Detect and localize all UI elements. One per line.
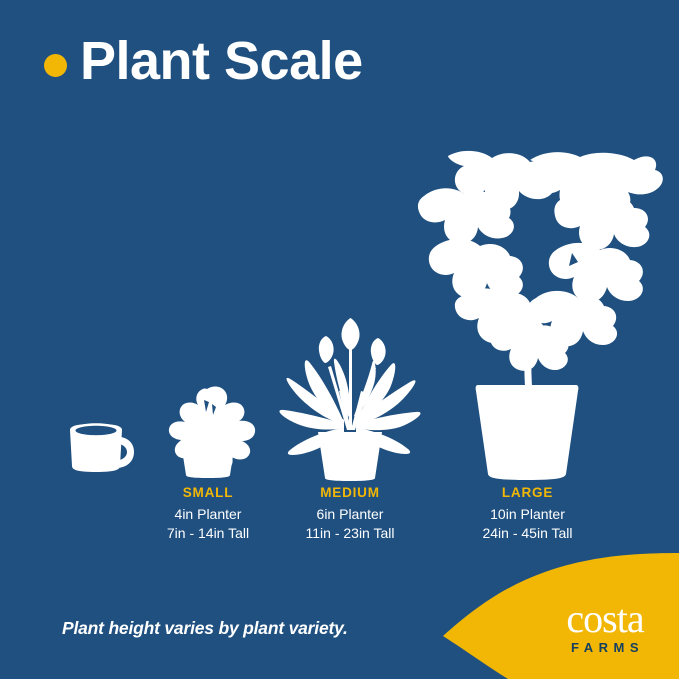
- planter-size-medium: 6in Planter: [283, 505, 417, 524]
- height-range-small: 7in - 14in Tall: [142, 524, 274, 543]
- medium-plant-silhouette: [279, 318, 420, 481]
- size-label-small: SMALL: [142, 484, 274, 502]
- costa-farms-logo: costa FARMS: [540, 600, 670, 655]
- illustration-stage: [0, 0, 679, 679]
- large-plant-silhouette: [418, 151, 663, 480]
- size-label-large: LARGE: [455, 484, 600, 502]
- small-plant-silhouette: [169, 386, 255, 478]
- size-label-medium: MEDIUM: [283, 484, 417, 502]
- footnote-text: Plant height varies by plant variety.: [62, 618, 348, 639]
- height-range-medium: 11in - 23in Tall: [283, 524, 417, 543]
- size-caption-small: SMALL 4in Planter 7in - 14in Tall: [142, 484, 274, 543]
- size-caption-medium: MEDIUM 6in Planter 11in - 23in Tall: [283, 484, 417, 543]
- coffee-mug-icon: [70, 423, 134, 472]
- planter-size-small: 4in Planter: [142, 505, 274, 524]
- size-caption-large: LARGE 10in Planter 24in - 45in Tall: [455, 484, 600, 543]
- planter-size-large: 10in Planter: [455, 505, 600, 524]
- yellow-dot-icon: [44, 54, 67, 77]
- infographic-canvas: Plant Scale: [0, 0, 679, 679]
- page-title-text: Plant Scale: [80, 34, 363, 88]
- page-title: Plant Scale: [44, 34, 363, 88]
- logo-subtitle: FARMS: [540, 640, 670, 655]
- height-range-large: 24in - 45in Tall: [455, 524, 600, 543]
- logo-wordmark: costa: [540, 600, 670, 638]
